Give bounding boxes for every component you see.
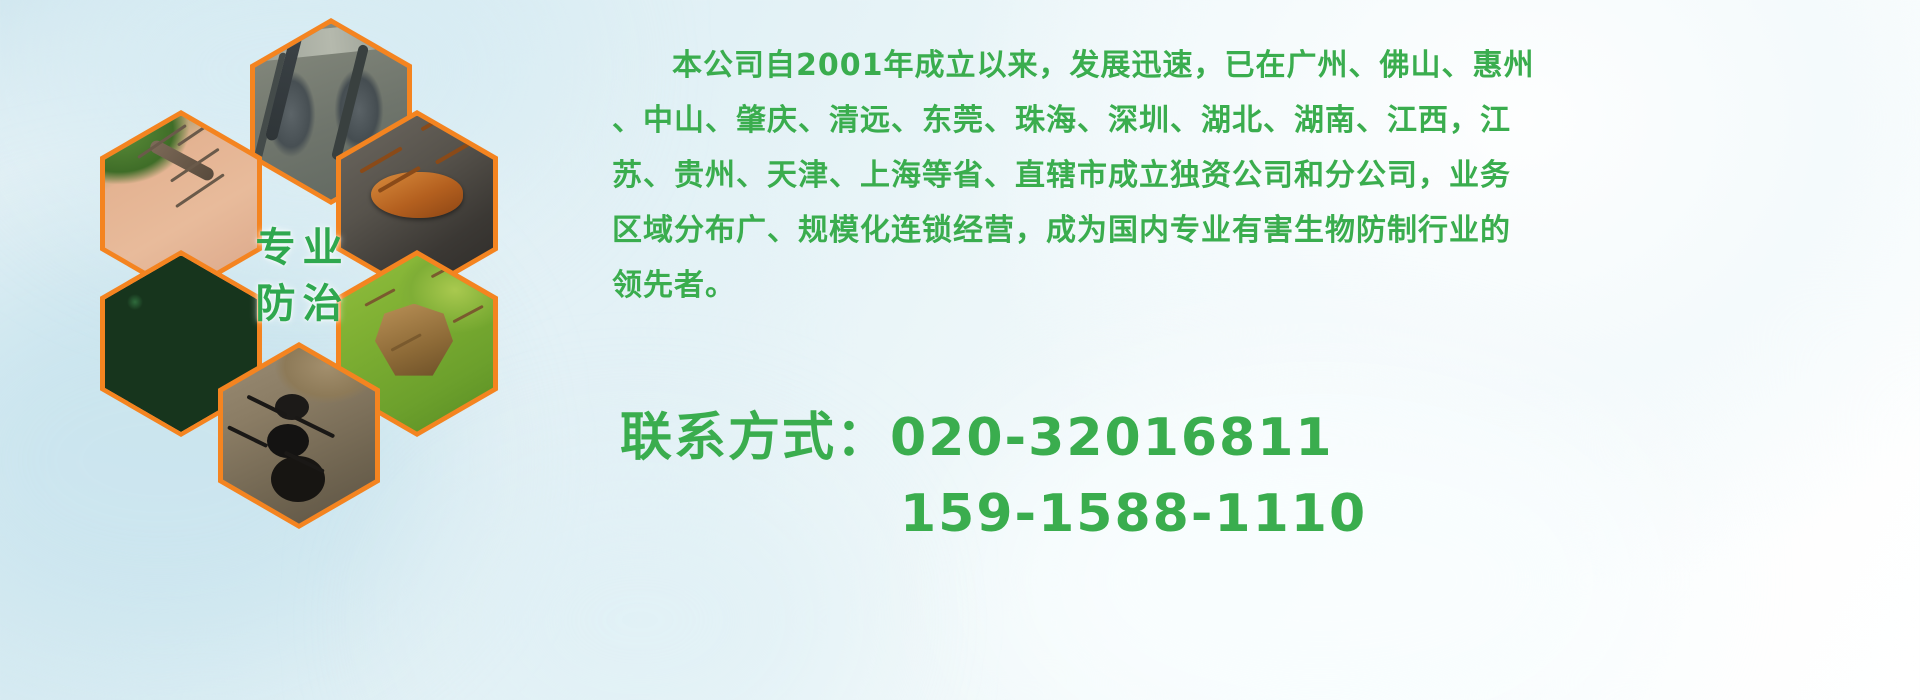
description-line-2: 、中山、肇庆、清远、东莞、珠海、深圳、湖北、湖南、江西，江 [612, 93, 1912, 148]
contact-block: 联系方式：020-32016811 159-1588-1110 [620, 400, 1910, 552]
logo-line-2: 防治 [249, 279, 350, 329]
description-line-5: 领先者。 [612, 258, 1912, 313]
hexagon-photo-cluster: 专业 防治 [78, 6, 598, 566]
contact-primary-line: 联系方式：020-32016811 [620, 400, 1910, 476]
contact-label: 联系方式： [620, 408, 890, 468]
ant-image [223, 348, 375, 524]
banner-stage: 专业 防治 本公司自2001年成立以来，发展迅速，已在广州、佛山、惠州 、中山、… [0, 0, 1920, 700]
description-line-4: 区域分布广、规模化连锁经营，成为国内专业有害生物防制行业的 [612, 203, 1912, 258]
contact-phone-secondary[interactable]: 159-1588-1110 [620, 476, 1910, 552]
description-line-1-text: 本公司自2001年成立以来，发展迅速，已在广州、佛山、惠州 [672, 48, 1535, 83]
contact-phone-primary[interactable]: 020-32016811 [890, 408, 1334, 468]
description-line-1: 本公司自2001年成立以来，发展迅速，已在广州、佛山、惠州 [612, 38, 1912, 93]
logo-line-1: 专业 [249, 223, 350, 273]
company-description: 本公司自2001年成立以来，发展迅速，已在广州、佛山、惠州 、中山、肇庆、清远、… [612, 38, 1912, 313]
ant-photo [223, 348, 375, 524]
description-line-3: 苏、贵州、天津、上海等省、直辖市成立独资公司和分公司，业务 [612, 148, 1912, 203]
